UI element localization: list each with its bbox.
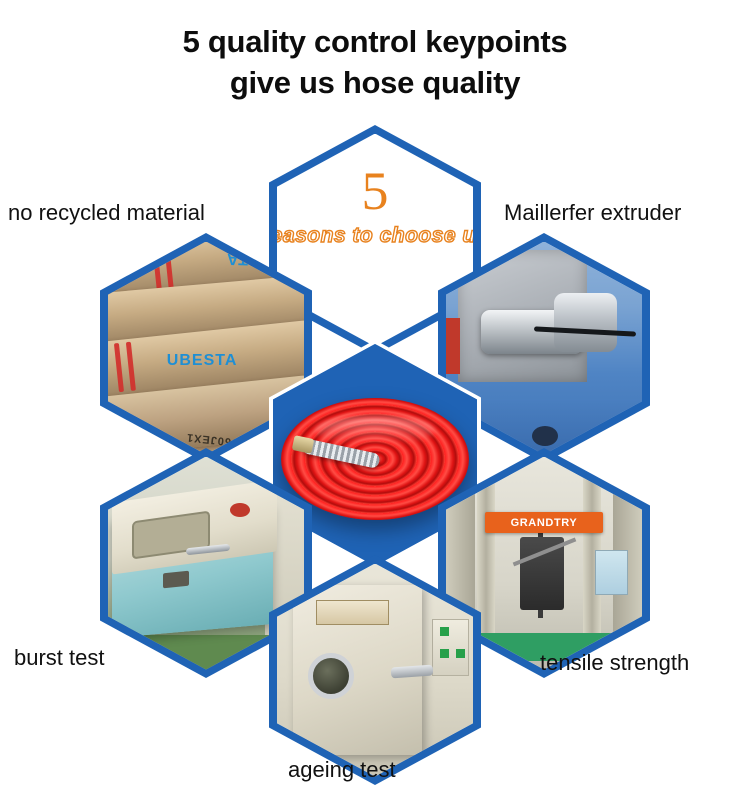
- hex-ageing-test-inner: [277, 564, 473, 777]
- bag-label-mid: UBESTA: [167, 352, 238, 370]
- tensile-brand-banner: GRANDTRY: [485, 512, 603, 533]
- reasons-count: 5: [362, 164, 389, 218]
- caption-ageing-test: ageing test: [288, 757, 396, 783]
- reasons-tagline: reasons to choose us: [277, 224, 473, 248]
- tensile-brand-label: GRANDTRY: [511, 517, 578, 529]
- caption-burst-test: burst test: [14, 645, 104, 671]
- caption-maillerfer-extruder: Maillerfer extruder: [504, 200, 681, 226]
- caption-no-recycled-material: no recycled material: [8, 200, 205, 226]
- caption-tensile-strength: tensile strength: [540, 650, 689, 676]
- bag-code-a: D3967: [123, 428, 161, 444]
- honeycomb-diagram: 5 reasons to choose us UBESTA UBESTA: [0, 0, 750, 800]
- photo-ageing-oven: [277, 564, 473, 777]
